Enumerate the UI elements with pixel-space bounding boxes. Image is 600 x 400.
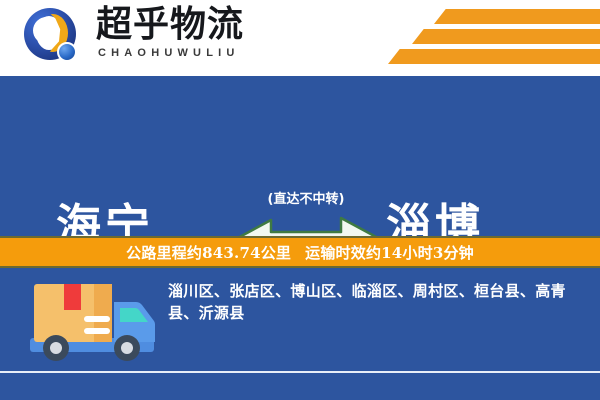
stripe-3 — [388, 49, 600, 64]
stripe-1 — [434, 9, 600, 24]
stripe-2 — [412, 29, 600, 44]
covered-districts-text: 淄川区、张店区、博山区、临淄区、周村区、桓台县、高青县、沂源县 — [168, 280, 588, 324]
brand-name-cn: 超乎物流 — [96, 4, 244, 44]
route-panel: 海宁 (直达不中转) 【往返运输】 淄博 — [0, 76, 600, 236]
header-bar: 超乎物流 CHAOHUWULIU — [0, 0, 600, 76]
direct-service-label: (直达不中转) — [236, 188, 376, 207]
duration-text: 运输时效约14小时3分钟 — [305, 242, 474, 263]
brand-name-en: CHAOHUWULIU — [98, 47, 240, 59]
orange-speed-stripes-icon — [340, 0, 600, 76]
delivery-truck-icon — [26, 276, 166, 376]
distance-text: 公路里程约843.74公里 — [126, 242, 291, 263]
logo-dot-icon — [57, 42, 77, 62]
company-logo — [24, 8, 86, 68]
transport-info-bar: 公路里程约843.74公里 运输时效约14小时3分钟 — [0, 236, 600, 268]
logistics-route-card: 超乎物流 CHAOHUWULIU 海宁 (直达不中转) 【往返运输】 淄博 公路… — [0, 0, 600, 400]
